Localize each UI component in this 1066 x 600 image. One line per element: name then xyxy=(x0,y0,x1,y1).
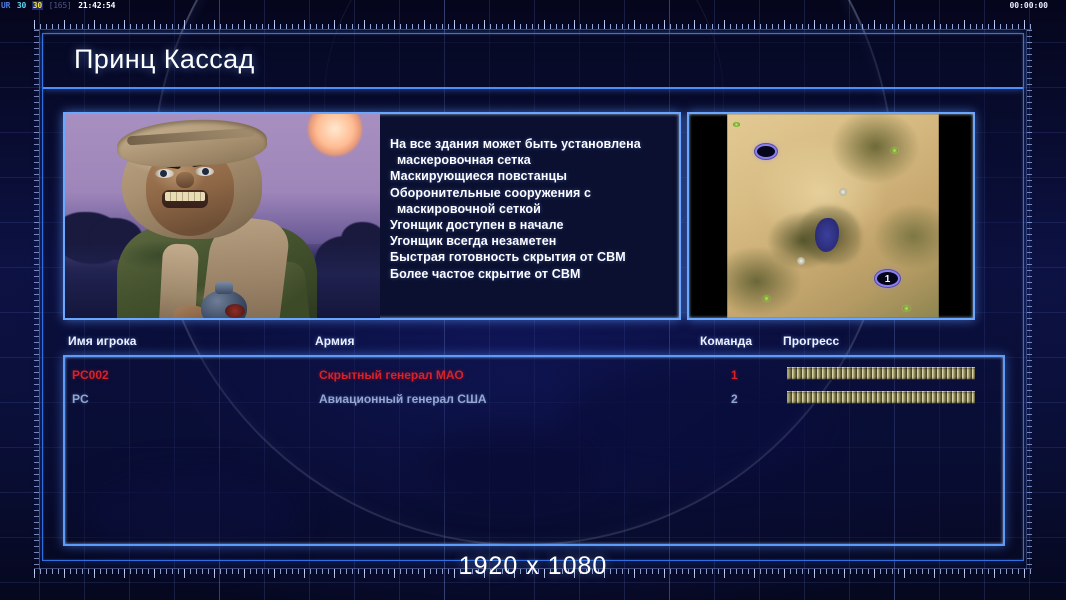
general-info-row: На все здания может быть установлена мас… xyxy=(63,112,1005,320)
debug-status-bar: UR 30 30 [165] 21:42:54 xyxy=(0,0,1066,11)
ability-line: Более частое скрытие от СВМ xyxy=(390,266,680,282)
debug-value-c: [165] xyxy=(48,1,73,10)
player-list-body: PC002 Скрытный генерал МАО 1 PC Авиацион… xyxy=(63,355,1005,546)
ability-line: Оборонительные сооружения с xyxy=(390,185,680,201)
ability-line: Угонщик доступен в начале xyxy=(390,217,680,233)
map-preview-panel[interactable]: 1 xyxy=(687,112,975,320)
map-supply-marker xyxy=(763,296,770,301)
main-panel: Принц Кассад xyxy=(42,33,1024,561)
ability-line: На все здания может быть установлена xyxy=(390,136,680,152)
player-army[interactable]: Авиационный генерал США xyxy=(319,392,487,406)
resolution-label: 1920 x 1080 xyxy=(0,552,1066,581)
player-progress-bar xyxy=(787,391,975,404)
panel-title-bar: Принц Кассад xyxy=(43,34,1023,89)
general-ability-list: На все здания может быть установлена мас… xyxy=(390,136,680,282)
session-timer: 00:00:00 xyxy=(1009,0,1048,11)
general-portrait-panel: На все здания может быть установлена мас… xyxy=(63,112,681,320)
debug-value-b: 30 xyxy=(32,1,43,10)
player-team[interactable]: 1 xyxy=(731,368,738,382)
player-list: Имя игрока Армия Команда Прогресс PC002 … xyxy=(63,334,1005,546)
map-supply-marker xyxy=(891,148,898,153)
ability-line: Угонщик всегда незаметен xyxy=(390,233,680,249)
map-tech-marker xyxy=(797,257,805,265)
map-tech-marker xyxy=(839,188,847,196)
ability-line: маскировочной сеткой xyxy=(390,201,680,217)
frame-ruler-right xyxy=(1026,30,1036,570)
ability-line: Быстрая готовность скрытия от СВМ xyxy=(390,249,680,265)
map-start-position: 1 xyxy=(875,270,900,287)
ability-line: Маскирующиеся повстанцы xyxy=(390,168,680,184)
map-supply-marker xyxy=(733,122,740,127)
map-supply-marker xyxy=(903,306,910,311)
column-header-army: Армия xyxy=(315,334,355,348)
debug-value-a: 30 xyxy=(16,1,27,10)
column-header-player-name: Имя игрока xyxy=(68,334,137,348)
table-row[interactable]: PC Авиационный генерал США 2 xyxy=(65,388,1003,412)
general-portrait-image xyxy=(65,114,380,318)
player-list-header: Имя игрока Армия Команда Прогресс xyxy=(63,334,1005,355)
frame-ruler-top xyxy=(34,20,1032,30)
debug-clock: 21:42:54 xyxy=(77,1,116,10)
player-team[interactable]: 2 xyxy=(731,392,738,406)
game-options-screen: UR 30 30 [165] 21:42:54 00:00:00 Принц К… xyxy=(0,0,1066,600)
frame-ruler-left xyxy=(30,30,40,570)
map-start-label: 1 xyxy=(877,275,898,285)
column-header-progress: Прогресс xyxy=(783,334,839,348)
column-header-team: Команда xyxy=(700,334,752,348)
player-name: PC xyxy=(72,392,89,406)
page-title: Принц Кассад xyxy=(74,44,255,75)
ability-line: маскеровочная сетка xyxy=(390,152,680,168)
debug-label-ur: UR xyxy=(0,1,11,10)
player-progress-bar xyxy=(787,367,975,380)
table-row[interactable]: PC002 Скрытный генерал МАО 1 xyxy=(65,364,1003,388)
map-start-position xyxy=(755,144,777,159)
player-army[interactable]: Скрытный генерал МАО xyxy=(319,368,464,382)
player-name: PC002 xyxy=(72,368,109,382)
map-preview-image: 1 xyxy=(727,114,939,318)
